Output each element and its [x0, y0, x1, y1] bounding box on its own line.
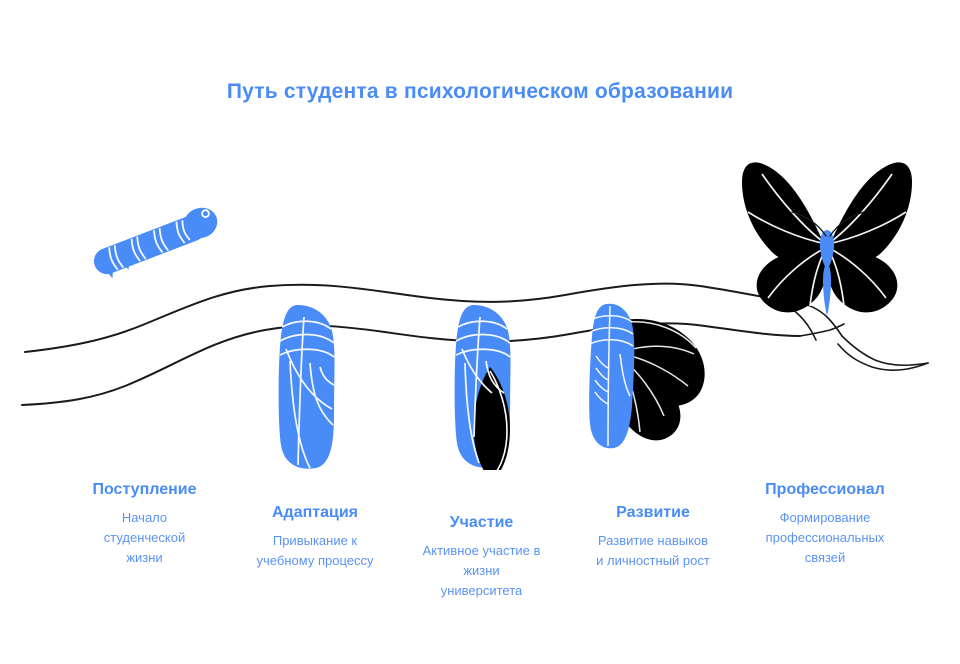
chrysalis-1-icon — [279, 305, 335, 469]
stage-description: Начало студенческой жизни — [57, 508, 232, 568]
stage-title: Поступление — [57, 480, 232, 500]
stage-description-line: Привыкание к — [225, 531, 405, 551]
stage-description: Активное участие в жизни университета — [394, 541, 569, 601]
stage-title: Профессионал — [730, 480, 920, 500]
stage-description: Привыкание к учебному процессу — [225, 531, 405, 571]
caterpillar-icon — [89, 203, 224, 283]
stage-description-line: Активное участие в — [394, 541, 569, 561]
stage-title: Развитие — [563, 503, 743, 523]
stage-title: Участие — [394, 513, 569, 533]
stage-description-line: университета — [394, 581, 569, 601]
stage-description-line: связей — [730, 548, 920, 568]
stage-description-line: Начало — [57, 508, 232, 528]
stage-item-uchastie[interactable]: Участие Активное участие в жизни универс… — [394, 513, 569, 601]
stage-description-line: студенческой — [57, 528, 232, 548]
stage-item-razvitie[interactable]: Развитие Развитие навыков и личностный р… — [563, 503, 743, 571]
stage-description-line: и личностный рост — [563, 551, 743, 571]
stage-item-postuplenie[interactable]: Поступление Начало студенческой жизни — [57, 480, 232, 568]
page-title: Путь студента в психологическом образова… — [0, 80, 960, 104]
infographic-page: Путь студента в психологическом образова… — [0, 0, 960, 664]
stage-description-line: Формирование — [730, 508, 920, 528]
metamorphosis-illustration — [0, 140, 960, 470]
stage-description: Развитие навыков и личностный рост — [563, 531, 743, 571]
stage-description-line: жизни — [57, 548, 232, 568]
stage-description-line: Развитие навыков — [563, 531, 743, 551]
stage-item-adaptatsiya[interactable]: Адаптация Привыкание к учебному процессу — [225, 503, 405, 571]
emerging-butterfly-icon — [589, 304, 705, 449]
stage-title: Адаптация — [225, 503, 405, 523]
chrysalis-2-icon — [455, 305, 511, 470]
stage-description-line: жизни — [394, 561, 569, 581]
stage-description-line: профессиональных — [730, 528, 920, 548]
butterfly-icon — [742, 162, 912, 316]
stage-description: Формирование профессиональных связей — [730, 508, 920, 568]
stage-description-line: учебному процессу — [225, 551, 405, 571]
stage-item-professional[interactable]: Профессионал Формирование профессиональн… — [730, 480, 920, 568]
